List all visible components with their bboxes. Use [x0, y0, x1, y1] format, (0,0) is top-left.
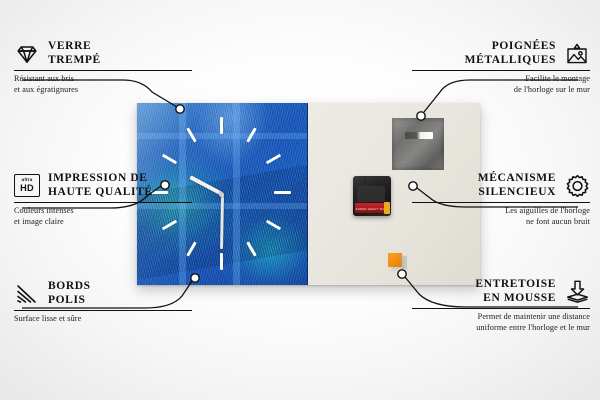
feature-mecanisme-silencieux: MÉCANISMESILENCIEUX Les aiguilles de l'h… — [412, 172, 590, 228]
hd-badge: ultra HD — [14, 174, 40, 197]
infographic-canvas: SUPER HEAVY DUTY — [0, 0, 600, 400]
feature-description: Résistant aux briset aux égratignures — [14, 74, 192, 96]
feature-header: ENTRETOISEEN MOUSSE — [412, 278, 590, 305]
feature-divider — [14, 70, 192, 71]
feature-title: VERRETREMPÉ — [48, 40, 101, 67]
feature-description: Couleurs intenseset image claire — [14, 206, 192, 228]
feature-description: Les aiguilles de l'horlogene font aucun … — [412, 206, 590, 228]
clock-minute-hand — [220, 194, 224, 249]
feature-divider — [14, 202, 192, 203]
clock-mechanism: SUPER HEAVY DUTY — [353, 176, 391, 216]
foam-spacer-arrow-icon — [564, 279, 590, 305]
ultra-hd-icon: ultra HD — [14, 173, 40, 199]
battery-terminal — [384, 202, 390, 214]
feature-title: BORDSPOLIS — [48, 280, 91, 307]
feature-divider — [412, 308, 590, 309]
hanger-plate — [392, 118, 444, 170]
feature-description: Surface lisse et sûre — [14, 314, 192, 325]
clock-tick-6 — [220, 253, 223, 270]
hd-badge-hd: HD — [20, 184, 34, 193]
feature-header: POIGNÉESMÉTALLIQUES — [412, 40, 590, 67]
clock-center-cap — [219, 192, 224, 197]
hanger-plate-texture — [392, 118, 444, 170]
foam-spacer-shadow — [401, 256, 407, 269]
feature-title: IMPRESSION DEHAUTE QUALITÉ — [48, 172, 153, 199]
feature-divider — [412, 202, 590, 203]
clock-tick-12 — [220, 117, 223, 134]
feature-title: MÉCANISMESILENCIEUX — [478, 172, 556, 199]
mechanism-label — [357, 186, 385, 202]
mechanism-hook — [364, 176, 383, 183]
gear-icon — [564, 173, 590, 199]
feature-description: Facilite le montagede l'horloge sur le m… — [412, 74, 590, 96]
feature-title: ENTRETOISEEN MOUSSE — [475, 278, 556, 305]
feature-divider — [14, 310, 192, 311]
foam-spacer — [388, 253, 402, 267]
feature-description: Permet de maintenir une distanceuniforme… — [412, 312, 590, 334]
clock-tick-3 — [274, 191, 291, 194]
feature-header: BORDSPOLIS — [14, 280, 192, 307]
feature-divider — [412, 70, 590, 71]
glass-band-vertical-2 — [233, 103, 240, 285]
feature-title: POIGNÉESMÉTALLIQUES — [465, 40, 556, 67]
feature-header: ultra HD IMPRESSION DEHAUTE QUALITÉ — [14, 172, 192, 199]
feature-header: MÉCANISMESILENCIEUX — [412, 172, 590, 199]
feature-poignees-metalliques: POIGNÉESMÉTALLIQUES Facilite le montaged… — [412, 40, 590, 96]
feature-verre-trempe: VERRETREMPÉ Résistant aux briset aux égr… — [14, 40, 192, 96]
polished-edge-icon — [14, 281, 40, 307]
picture-frame-hanger-icon — [564, 41, 590, 67]
hanger-slot — [405, 132, 433, 139]
feature-bords-polis: BORDSPOLIS Surface lisse et sûre — [14, 280, 192, 325]
feature-entretoise-en-mousse: ENTRETOISEEN MOUSSE Permet de maintenir … — [412, 278, 590, 334]
feature-header: VERRETREMPÉ — [14, 40, 192, 67]
feature-impression-haute-qualite: ultra HD IMPRESSION DEHAUTE QUALITÉ Coul… — [14, 172, 192, 228]
diamond-icon — [14, 41, 40, 67]
